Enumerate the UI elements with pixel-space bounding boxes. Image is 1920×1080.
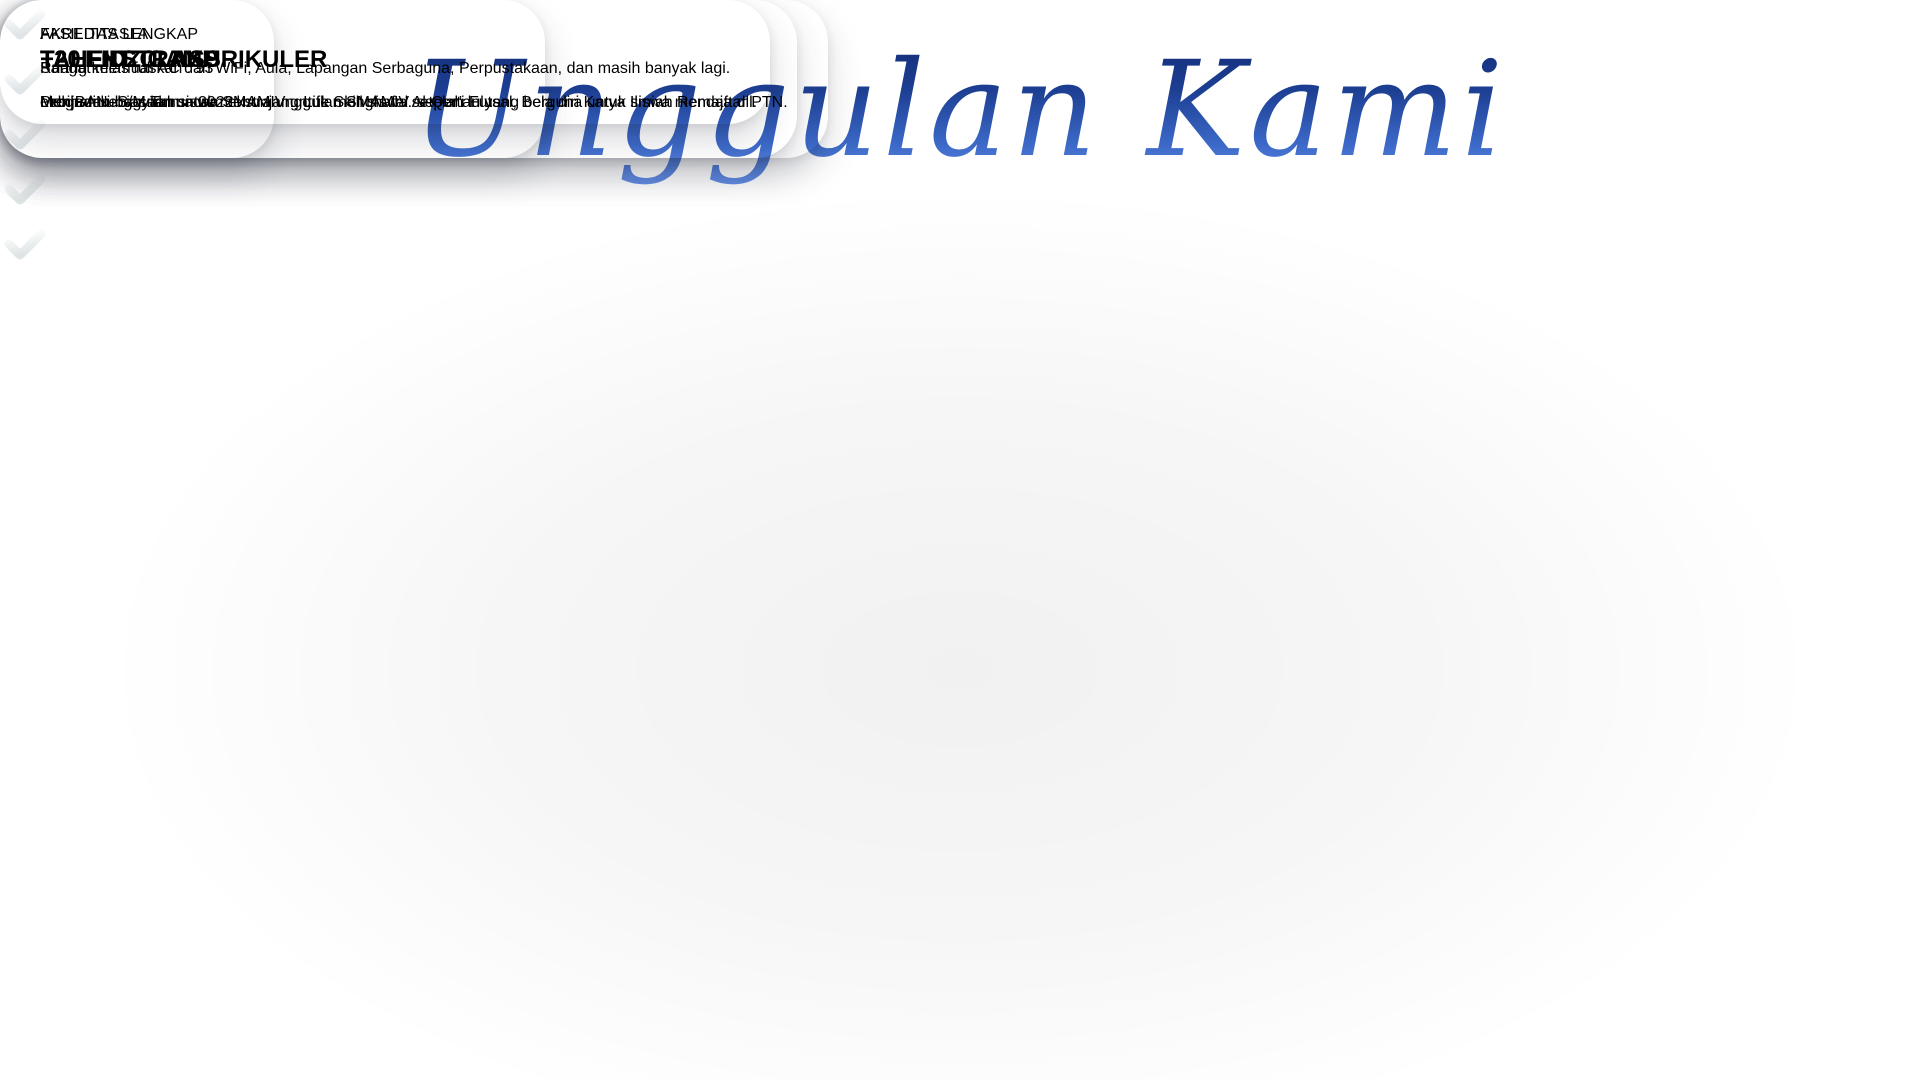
card-fasilitas-lengkap-title: FASILITAS LENGKAP xyxy=(40,26,198,43)
infographic-stage: Unggulan Kami AKREDITASI A Sangat memuas… xyxy=(0,0,1920,1080)
card-fasilitas-lengkap-title-wrap: FASILITAS LENGKAP xyxy=(40,26,730,44)
card-fasilitas-lengkap-body: Ruang kelas full AC dan WiFi, Aula, Lapa… xyxy=(40,60,730,78)
check-circle-icon xyxy=(0,220,1920,275)
card-fasilitas-lengkap[interactable]: FASILITAS LENGKAP Ruang kelas full AC da… xyxy=(0,0,770,124)
